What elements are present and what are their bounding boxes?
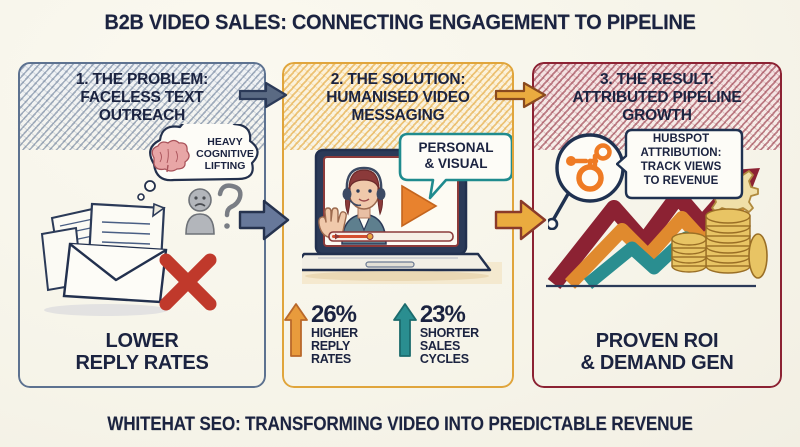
panel-footer-problem: LOWER REPLY RATES xyxy=(22,330,262,374)
arrow-problem-to-solution-main xyxy=(238,198,290,242)
footer-tagline: WHITEHAT SEO: TRANSFORMING VIDEO INTO PR… xyxy=(40,414,760,436)
heading-line-3: OUTREACH xyxy=(24,107,260,125)
bubble-line-4: TO REVENUE xyxy=(622,174,740,188)
bubble-line-2: ATTRIBUTION: xyxy=(622,146,740,160)
callout-text-attribution: HUBSPOT ATTRIBUTION: TRACK VIEWS TO REVE… xyxy=(622,132,740,189)
stat-value: 26% xyxy=(311,304,393,327)
up-arrow-icon-orange xyxy=(284,302,308,358)
heading-line-1: 3. THE RESULT: xyxy=(538,71,776,89)
stat-label-2: SALES CYCLES xyxy=(420,340,512,366)
stats-row: 26% HIGHER REPLY RATES 23% SHORTER SALES… xyxy=(284,302,512,380)
envelope-icon xyxy=(64,244,166,302)
heading-line-3: GROWTH xyxy=(538,107,776,125)
bubble-line-1: HEAVY xyxy=(190,136,260,148)
stat-reply-rates: 26% HIGHER REPLY RATES xyxy=(284,302,393,366)
footer-line-1: LOWER xyxy=(22,330,262,352)
faceless-outreach-illustration xyxy=(26,182,266,332)
bubble-line-1: HUBSPOT xyxy=(622,132,740,146)
video-progress-bar xyxy=(329,232,453,241)
arrow-solution-to-result-top xyxy=(494,80,548,110)
arrow-problem-to-solution-top xyxy=(238,80,290,110)
stat-label-1: SHORTER xyxy=(420,327,512,340)
heading-line-1: 1. THE PROBLEM: xyxy=(24,71,260,89)
bubble-line-3: TRACK VIEWS xyxy=(622,160,740,174)
bubble-text-cognitive: HEAVY COGNITIVE LIFTING xyxy=(190,136,260,172)
panel-result: 3. THE RESULT: ATTRIBUTED PIPELINE GROWT… xyxy=(532,62,782,388)
stat-label-1: HIGHER xyxy=(311,327,393,340)
bubble-line-2: COGNITIVE xyxy=(190,148,260,160)
panel-heading-result: 3. THE RESULT: ATTRIBUTED PIPELINE GROWT… xyxy=(538,71,776,125)
speech-bubble-text: PERSONAL & VISUAL xyxy=(400,140,512,171)
red-x-icon xyxy=(166,260,210,304)
up-arrow-icon-teal xyxy=(393,302,417,358)
arrow-solution-to-result-main xyxy=(494,198,548,242)
footer-line-2: & DEMAND GEN xyxy=(536,352,778,374)
infographic-canvas: B2B VIDEO SALES: CONNECTING ENGAGEMENT T… xyxy=(0,0,800,447)
footer-line-2: REPLY RATES xyxy=(22,352,262,374)
page-title: B2B VIDEO SALES: CONNECTING ENGAGEMENT T… xyxy=(28,10,772,35)
heading-line-2: FACELESS TEXT xyxy=(24,89,260,107)
bubble-line-1: PERSONAL xyxy=(400,140,512,156)
heading-line-2: ATTRIBUTED PIPELINE xyxy=(538,89,776,107)
bubble-line-3: LIFTING xyxy=(190,160,260,172)
panel-heading-solution: 2. THE SOLUTION: HUMANISED VIDEO MESSAGI… xyxy=(288,71,508,125)
heading-line-2: HUMANISED VIDEO xyxy=(288,89,508,107)
stat-value: 23% xyxy=(420,304,512,327)
heading-line-3: MESSAGING xyxy=(288,107,508,125)
stat-label-2: REPLY RATES xyxy=(311,340,393,366)
panel-problem: 1. THE PROBLEM: FACELESS TEXT OUTREACH H… xyxy=(18,62,266,388)
panel-solution: 2. THE SOLUTION: HUMANISED VIDEO MESSAGI… xyxy=(282,62,514,388)
confused-person-icon xyxy=(186,189,214,234)
heading-line-1: 2. THE SOLUTION: xyxy=(288,71,508,89)
bubble-line-2: & VISUAL xyxy=(400,156,512,172)
stat-sales-cycles: 23% SHORTER SALES CYCLES xyxy=(393,302,512,366)
footer-line-1: PROVEN ROI xyxy=(536,330,778,352)
panel-footer-result: PROVEN ROI & DEMAND GEN xyxy=(536,330,778,374)
panel-heading-problem: 1. THE PROBLEM: FACELESS TEXT OUTREACH xyxy=(24,71,260,125)
